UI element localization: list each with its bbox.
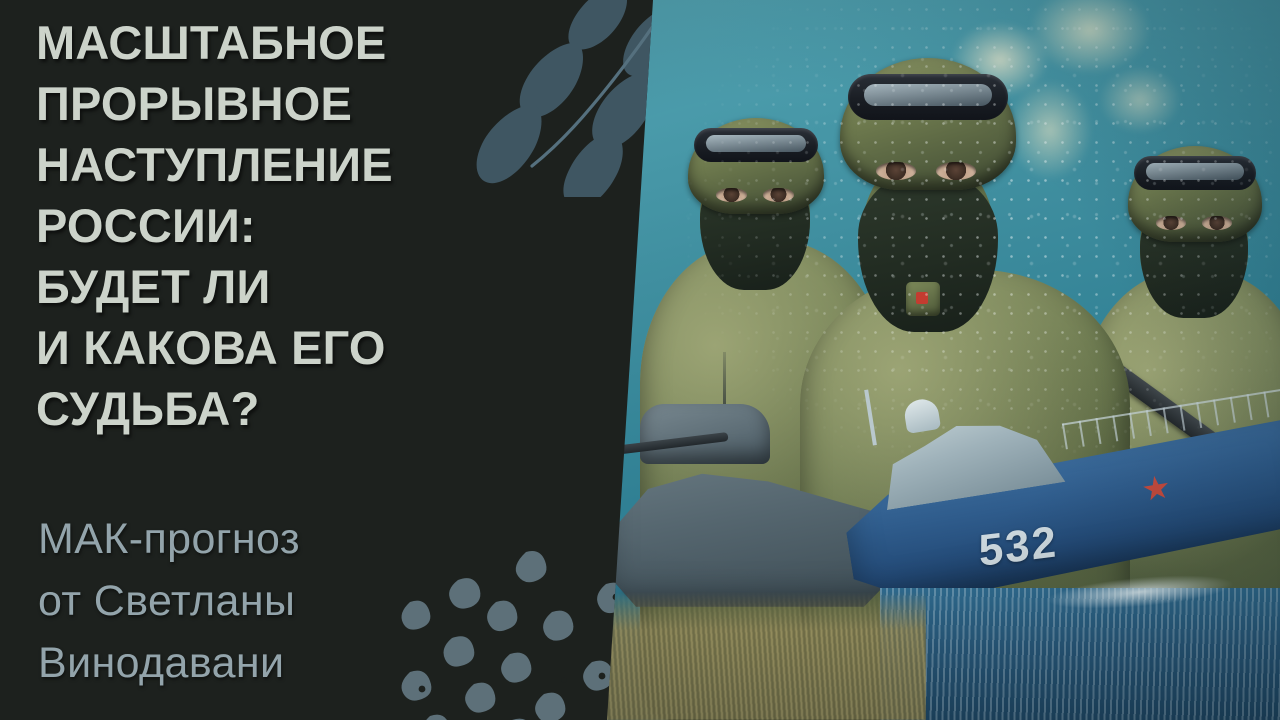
- text-panel: МАСШТАБНОЕ ПРОРЫВНОЕ НАСТУПЛЕНИЕ РОССИИ:…: [0, 0, 680, 720]
- page-title: МАСШТАБНОЕ ПРОРЫВНОЕ НАСТУПЛЕНИЕ РОССИИ:…: [36, 12, 576, 439]
- poster-canvas: 532: [0, 0, 1280, 720]
- poster-subtitle: МАК-прогноз от Светланы Винодавани: [38, 508, 558, 694]
